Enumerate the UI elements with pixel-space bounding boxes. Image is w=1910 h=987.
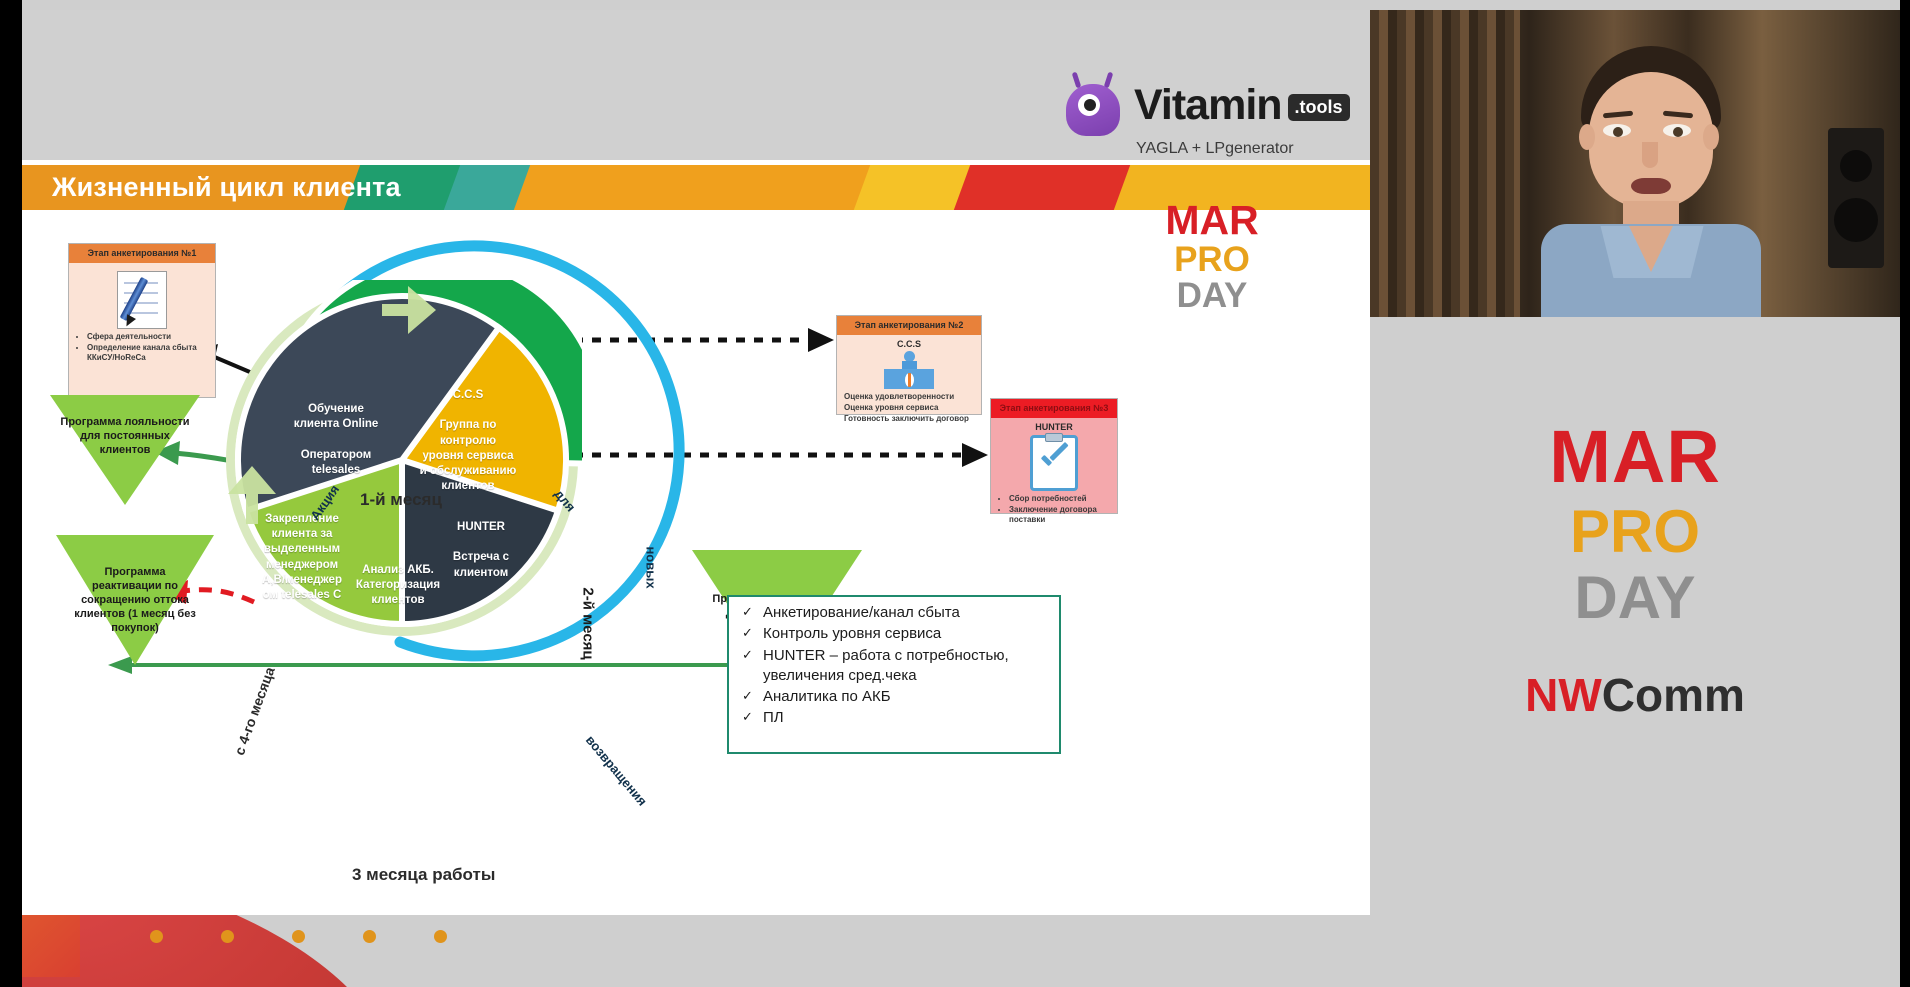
iris-left (1613, 127, 1623, 137)
segment-label-akb: Анализ АКБ.Категоризацияклиентов (340, 563, 456, 609)
check-mark (1039, 450, 1069, 468)
card-stage1[interactable]: Этап анкетирования №1 Сфера деятельности… (68, 243, 216, 398)
card-stage2-icon-label: C.C.S (842, 339, 976, 349)
list-item: Определение канала сбыта ККиСУ/HoReCa (87, 343, 210, 363)
clipboard-clip (1045, 433, 1063, 442)
presenter-figure (1545, 46, 1755, 317)
card-stage1-body: Сфера деятельности Определение канала сб… (69, 263, 215, 370)
legend-item: ✓Контроль уровня сервиса (729, 624, 1059, 644)
company-name-prefix: NW (1525, 669, 1602, 721)
check-icon: ✓ (742, 646, 753, 664)
wheel-label-month4: с 4-го месяца (231, 665, 278, 758)
card-stage2-header: Этап анкетирования №2 (837, 316, 981, 335)
check-icon: ✓ (742, 603, 753, 621)
wheel-label-month1: 1-й месяц (360, 490, 442, 510)
triangle-label: Программареактивации посокращению оттока… (56, 565, 214, 635)
logo-tld-badge: .tools (1288, 94, 1350, 121)
check-icon: ✓ (742, 687, 753, 705)
legend-item-label: Анкетирование/канал сбыта (763, 604, 960, 621)
document-pen-icon (117, 271, 167, 329)
card-stage3-body: HUNTER Сбор потребностей Заключение дого… (991, 418, 1117, 532)
card-stage3-bullets: Сбор потребностей Заключение договора по… (996, 494, 1112, 525)
ear-right (1703, 124, 1719, 150)
ribbon-band-4 (514, 165, 910, 210)
right-black-bar (1900, 0, 1910, 987)
client-lifecycle-diagram: Этап анкетирования №1 Сфера деятельности… (22, 210, 1370, 915)
person-badge (905, 373, 914, 387)
arc-label-novyh: новых (644, 546, 659, 588)
legend-item-label: HUNTER – работа с потребностью, увеличен… (763, 647, 1009, 684)
presentation-slide: Жизненный цикл клиента Vitamin.tools YAG… (22, 10, 1370, 915)
card-stage2[interactable]: Этап анкетирования №2 C.C.S Оценка удовл… (836, 315, 982, 415)
monster-icon (1062, 72, 1124, 138)
nose (1642, 142, 1658, 168)
legend-item: ✓Аналитика по АКБ (729, 687, 1059, 707)
card-stage1-bullets: Сфера деятельности Определение канала сб… (74, 332, 210, 363)
list-item: Оценка удовлетворенности (844, 392, 976, 402)
legend-list: ✓Анкетирование/канал сбыта ✓Контроль уро… (729, 603, 1059, 729)
dot-row-decoration (150, 930, 447, 943)
card-stage3-header: Этап анкетирования №3 (991, 399, 1117, 418)
list-item: Сбор потребностей (1009, 494, 1112, 504)
triangle-reactivation[interactable]: Программареактивации посокращению оттока… (56, 535, 214, 665)
slide-brand-marproday: MAR PRO DAY (1127, 200, 1297, 313)
brand-panel: MAR PRO DAY NWComm (1370, 420, 1900, 718)
ccs-person-icon (878, 351, 940, 389)
logo-subtitle: YAGLA + LPgenerator (1136, 140, 1370, 158)
slide-brand-line3: DAY (1127, 278, 1297, 314)
clipboard-check-icon (1030, 435, 1078, 491)
legend-item: ✓Анкетирование/канал сбыта (729, 603, 1059, 623)
segment-label-fix: Закреплениеклиента завыделеннымменеджеро… (250, 512, 354, 603)
legend-item: ✓ПЛ (729, 708, 1059, 728)
dot-2 (221, 930, 234, 943)
slide-brand-line2: PRO (1127, 242, 1297, 278)
slide-title: Жизненный цикл клиента (52, 165, 401, 210)
legend-item: ✓HUNTER – работа с потребностью, увеличе… (729, 646, 1059, 687)
brand-line1: MAR (1370, 420, 1900, 494)
card-stage1-header: Этап анкетирования №1 (69, 244, 215, 263)
segment-label-teach: Обучениеклиента OnlineОператоромtelesale… (282, 402, 390, 478)
screen-share-stage: Жизненный цикл клиента Vitamin.tools YAG… (0, 0, 1910, 987)
card-stage3[interactable]: Этап анкетирования №3 HUNTER Сбор потреб… (990, 398, 1118, 514)
dot-4 (363, 930, 376, 943)
wheel-label-month2: 2-й месяц (580, 587, 597, 659)
left-black-bar (0, 0, 22, 987)
monster-pupil (1084, 99, 1096, 111)
dot-5 (434, 930, 447, 943)
brand-line2: PRO (1370, 502, 1900, 562)
iris-right (1673, 127, 1683, 137)
legend-item-label: Аналитика по АКБ (763, 688, 891, 705)
check-icon: ✓ (742, 708, 753, 726)
list-item: Оценка уровня сервиса (844, 403, 976, 413)
card-stage2-body: C.C.S Оценка удовлетворенности Оценка ур… (837, 335, 981, 431)
mouth (1631, 178, 1671, 194)
check-icon: ✓ (742, 624, 753, 642)
logo-wordmark: Vitamin (1134, 81, 1282, 129)
presenter-webcam[interactable] (1370, 10, 1900, 317)
speaker-cabinet (1828, 128, 1884, 268)
legend-box: ✓Анкетирование/канал сбыта ✓Контроль уро… (727, 595, 1061, 754)
company-name: NWComm (1370, 672, 1900, 718)
list-item: Сфера деятельности (87, 332, 210, 342)
card-stage2-bullets: Оценка удовлетворенности Оценка уровня с… (842, 392, 976, 424)
list-item: Готовность заключить договор (844, 414, 976, 424)
ear-left (1579, 124, 1595, 150)
lifecycle-wheel: Обучениеклиента OnlineОператоромtelesale… (222, 280, 582, 640)
vitamin-tools-logo: Vitamin.tools YAGLA + LPgenerator (1062, 72, 1370, 164)
wheel-label-month3: 3 месяца работы (352, 865, 495, 885)
dot-1 (150, 930, 163, 943)
list-item: Заключение договора поставки (1009, 505, 1112, 525)
dot-3 (292, 930, 305, 943)
arc-label-vozvrascheniya: возвращения (583, 732, 650, 808)
legend-item-label: Контроль уровня сервиса (763, 625, 941, 642)
triangle-loyalty-permanent[interactable]: Программа лояльностидля постоянныхклиент… (50, 395, 200, 505)
legend-item-label: ПЛ (763, 709, 784, 726)
triangle-label: Программа лояльностидля постоянныхклиент… (50, 415, 200, 457)
curtain (1370, 10, 1520, 317)
slide-brand-line1: MAR (1127, 200, 1297, 242)
segment-label-ccs: C.C.SГруппа поконтролюуровня сервисаи об… (415, 388, 521, 494)
card-stage3-icon-label: HUNTER (996, 422, 1112, 432)
brand-line3: DAY (1370, 568, 1900, 628)
company-name-suffix: Comm (1602, 669, 1745, 721)
